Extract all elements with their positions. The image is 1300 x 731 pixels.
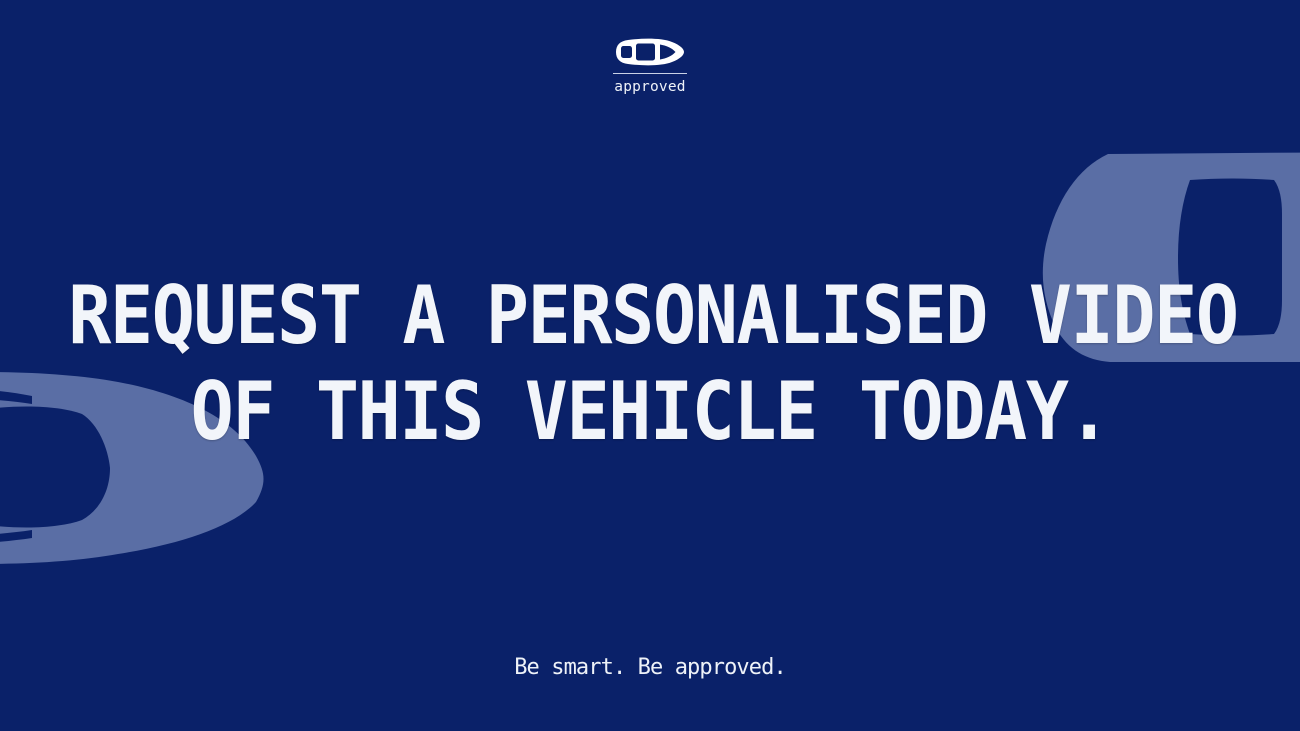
brand-logo: approved xyxy=(0,38,1300,95)
logo-wordmark: approved xyxy=(614,80,685,95)
headline-line-2: OF THIS VEHICLE TODAY. xyxy=(68,364,1232,460)
headline-line-1: REQUEST A PERSONALISED VIDEO xyxy=(68,268,1232,364)
page-title: REQUEST A PERSONALISED VIDEO OF THIS VEH… xyxy=(0,268,1300,460)
car-top-view-icon xyxy=(614,38,686,66)
logo-divider-rule xyxy=(613,73,687,74)
promo-banner: approved REQUEST A PERSONALISED VIDEO OF… xyxy=(0,0,1300,731)
brand-tagline: Be smart. Be approved. xyxy=(0,655,1300,681)
